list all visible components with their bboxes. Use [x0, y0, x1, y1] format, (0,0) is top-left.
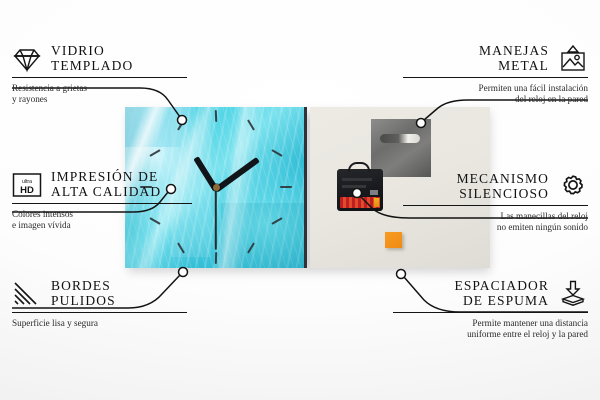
feature-divider [12, 203, 192, 204]
polished-edges-icon [12, 280, 42, 308]
movement-slot [342, 178, 372, 181]
movement-bail [348, 162, 370, 172]
feature-bordes-pulidos: BORDES PULIDOS Superficie lisa y segura [12, 279, 187, 329]
feature-heading: BORDES PULIDOS [12, 279, 187, 308]
feature-subtitle: uniforme entre el reloj y la pared [393, 329, 588, 340]
feature-title: VIDRIO TEMPLADO [51, 44, 133, 73]
clock-movement [337, 169, 383, 211]
feature-subtitle: Las manecillas del reloj [403, 211, 588, 222]
hanger-keyhole-slot [380, 134, 420, 143]
svg-text:HD: HD [20, 185, 34, 196]
feature-subtitle: Permite mantener una distancia [393, 318, 588, 329]
feature-subtitle: del reloj en la pared [403, 94, 588, 105]
clock-center-hub [213, 184, 220, 191]
feature-heading: MECANISMO SILENCIOSO [403, 172, 588, 201]
clock-tick [280, 186, 292, 188]
feature-heading: MANEJAS METAL [403, 44, 588, 73]
foam-spacer-arrow-icon [558, 280, 588, 308]
feature-divider [403, 77, 588, 78]
infographic-canvas: VIDRIO TEMPLADO Resistencia a grietas y … [0, 0, 600, 400]
feature-divider [12, 77, 187, 78]
feature-divider [12, 312, 187, 313]
feature-mecanismo-silencioso: MECANISMO SILENCIOSO Las manecillas del … [403, 172, 588, 233]
battery-terminal [374, 198, 379, 207]
feature-heading: VIDRIO TEMPLADO [12, 44, 187, 73]
feature-manejas-metal: MANEJAS METAL Permiten una fácil instala… [403, 44, 588, 105]
feature-divider [393, 312, 588, 313]
feature-divider [403, 205, 588, 206]
feature-subtitle: Superficie lisa y segura [12, 318, 187, 329]
clock-second-hand [215, 188, 217, 250]
feature-subtitle: e imagen vívida [12, 220, 192, 231]
picture-frame-hanger-icon [558, 45, 588, 73]
feature-impresion-alta-calidad: ultra HD IMPRESIÓN DE ALTA CALIDAD Color… [12, 170, 192, 231]
feature-subtitle: Resistencia a grietas [12, 83, 187, 94]
feature-subtitle: y rayones [12, 94, 187, 105]
feature-title: MECANISMO SILENCIOSO [457, 172, 549, 201]
feature-subtitle: Colores intensos [12, 209, 192, 220]
feature-title: MANEJAS METAL [479, 44, 549, 73]
feature-subtitle: Permiten una fácil instalación [403, 83, 588, 94]
feature-heading: ultra HD IMPRESIÓN DE ALTA CALIDAD [12, 170, 192, 199]
foam-spacer-pad [385, 232, 402, 248]
feature-title: ESPACIADOR DE ESPUMA [454, 279, 549, 308]
feature-subtitle: no emiten ningún sonido [403, 222, 588, 233]
diamond-icon [12, 45, 42, 73]
feature-espaciador-espuma: ESPACIADOR DE ESPUMA Permite mantener un… [393, 279, 588, 340]
battery-compartment [340, 197, 380, 208]
feature-heading: ESPACIADOR DE ESPUMA [393, 279, 588, 308]
ultra-hd-icon: ultra HD [12, 171, 42, 199]
clock-tick [215, 252, 217, 264]
feature-title: IMPRESIÓN DE ALTA CALIDAD [51, 170, 161, 199]
movement-chip [370, 190, 378, 195]
feature-vidrio-templado: VIDRIO TEMPLADO Resistencia a grietas y … [12, 44, 187, 105]
movement-slot [342, 185, 366, 188]
feature-title: BORDES PULIDOS [51, 279, 116, 308]
clock-tick [215, 110, 217, 122]
gear-icon [558, 173, 588, 201]
